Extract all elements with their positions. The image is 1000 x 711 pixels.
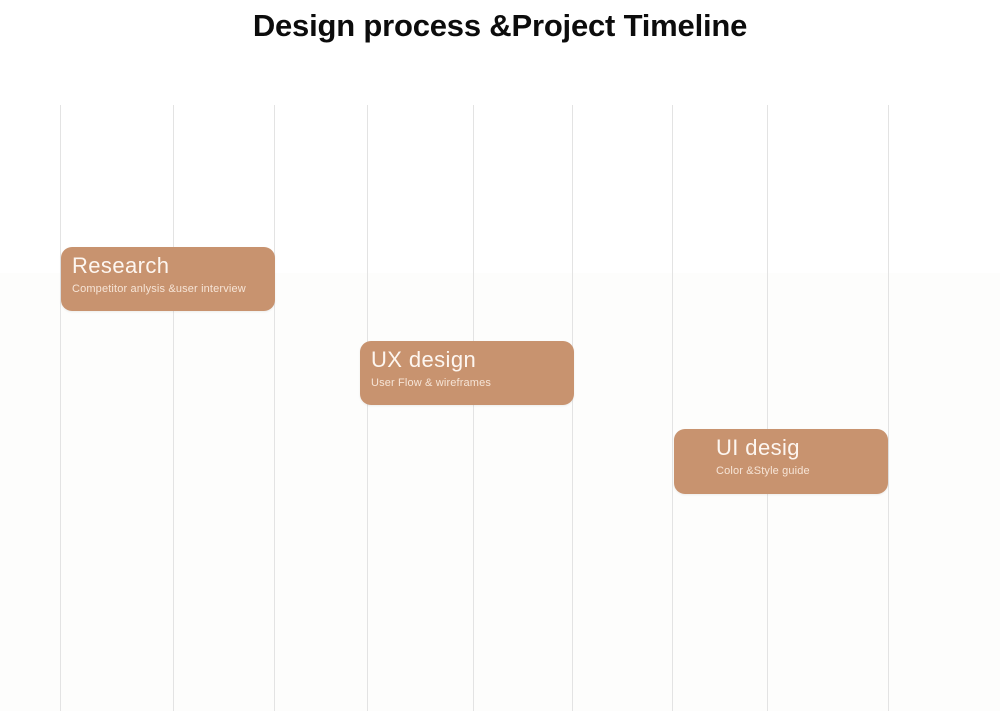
gridline-1 [173,105,174,711]
gridline-7 [767,105,768,711]
gridline-0 [60,105,61,711]
task-bar-description: Color &Style guide [716,465,810,477]
gridline-8 [888,105,889,711]
task-bar[interactable]: UX designUser Flow & wireframes [360,341,574,405]
page-title: Design process &Project Timeline [0,8,1000,44]
task-bar-title: UI desig [716,435,800,461]
gridline-4 [473,105,474,711]
task-bar[interactable]: ResearchCompetitor anlysis &user intervi… [61,247,275,311]
gridline-3 [367,105,368,711]
task-bar[interactable]: UI desigColor &Style guide [674,429,888,494]
task-bar-title: Research [72,253,169,279]
timeline-plot-area: ResearchCompetitor anlysis &user intervi… [0,105,1000,711]
gridline-5 [572,105,573,711]
task-bar-title: UX design [371,347,476,373]
task-bar-description: User Flow & wireframes [371,377,491,389]
gridline-2 [274,105,275,711]
task-bar-description: Competitor anlysis &user interview [72,283,246,295]
gridline-6 [672,105,673,711]
